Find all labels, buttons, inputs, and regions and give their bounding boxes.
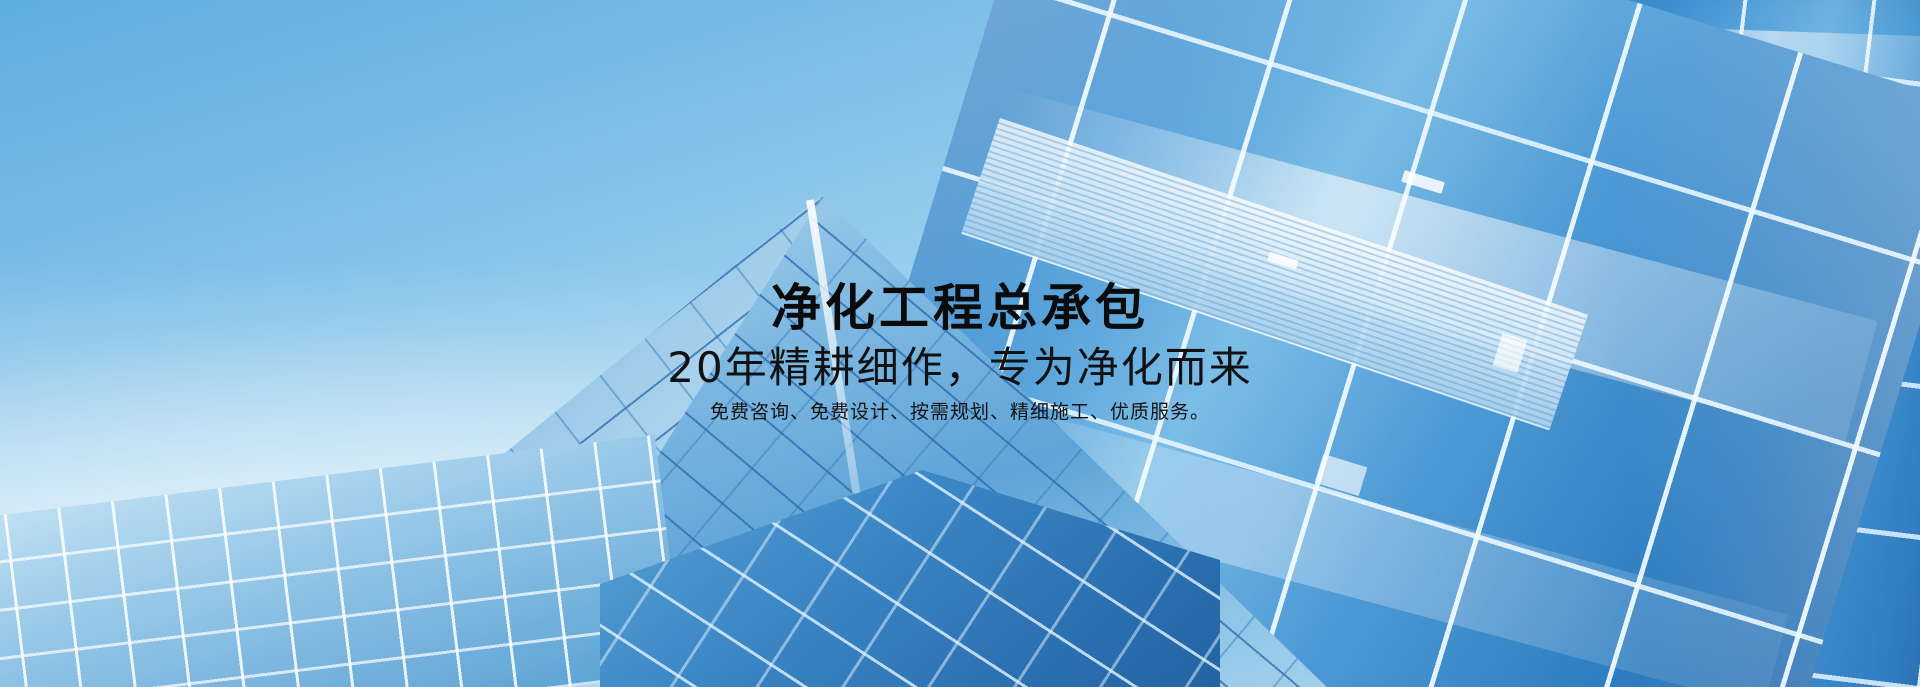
hero-banner: 净化工程总承包 20年精耕细作，专为净化而来 免费咨询、免费设计、按需规划、精细… [0, 0, 1920, 687]
